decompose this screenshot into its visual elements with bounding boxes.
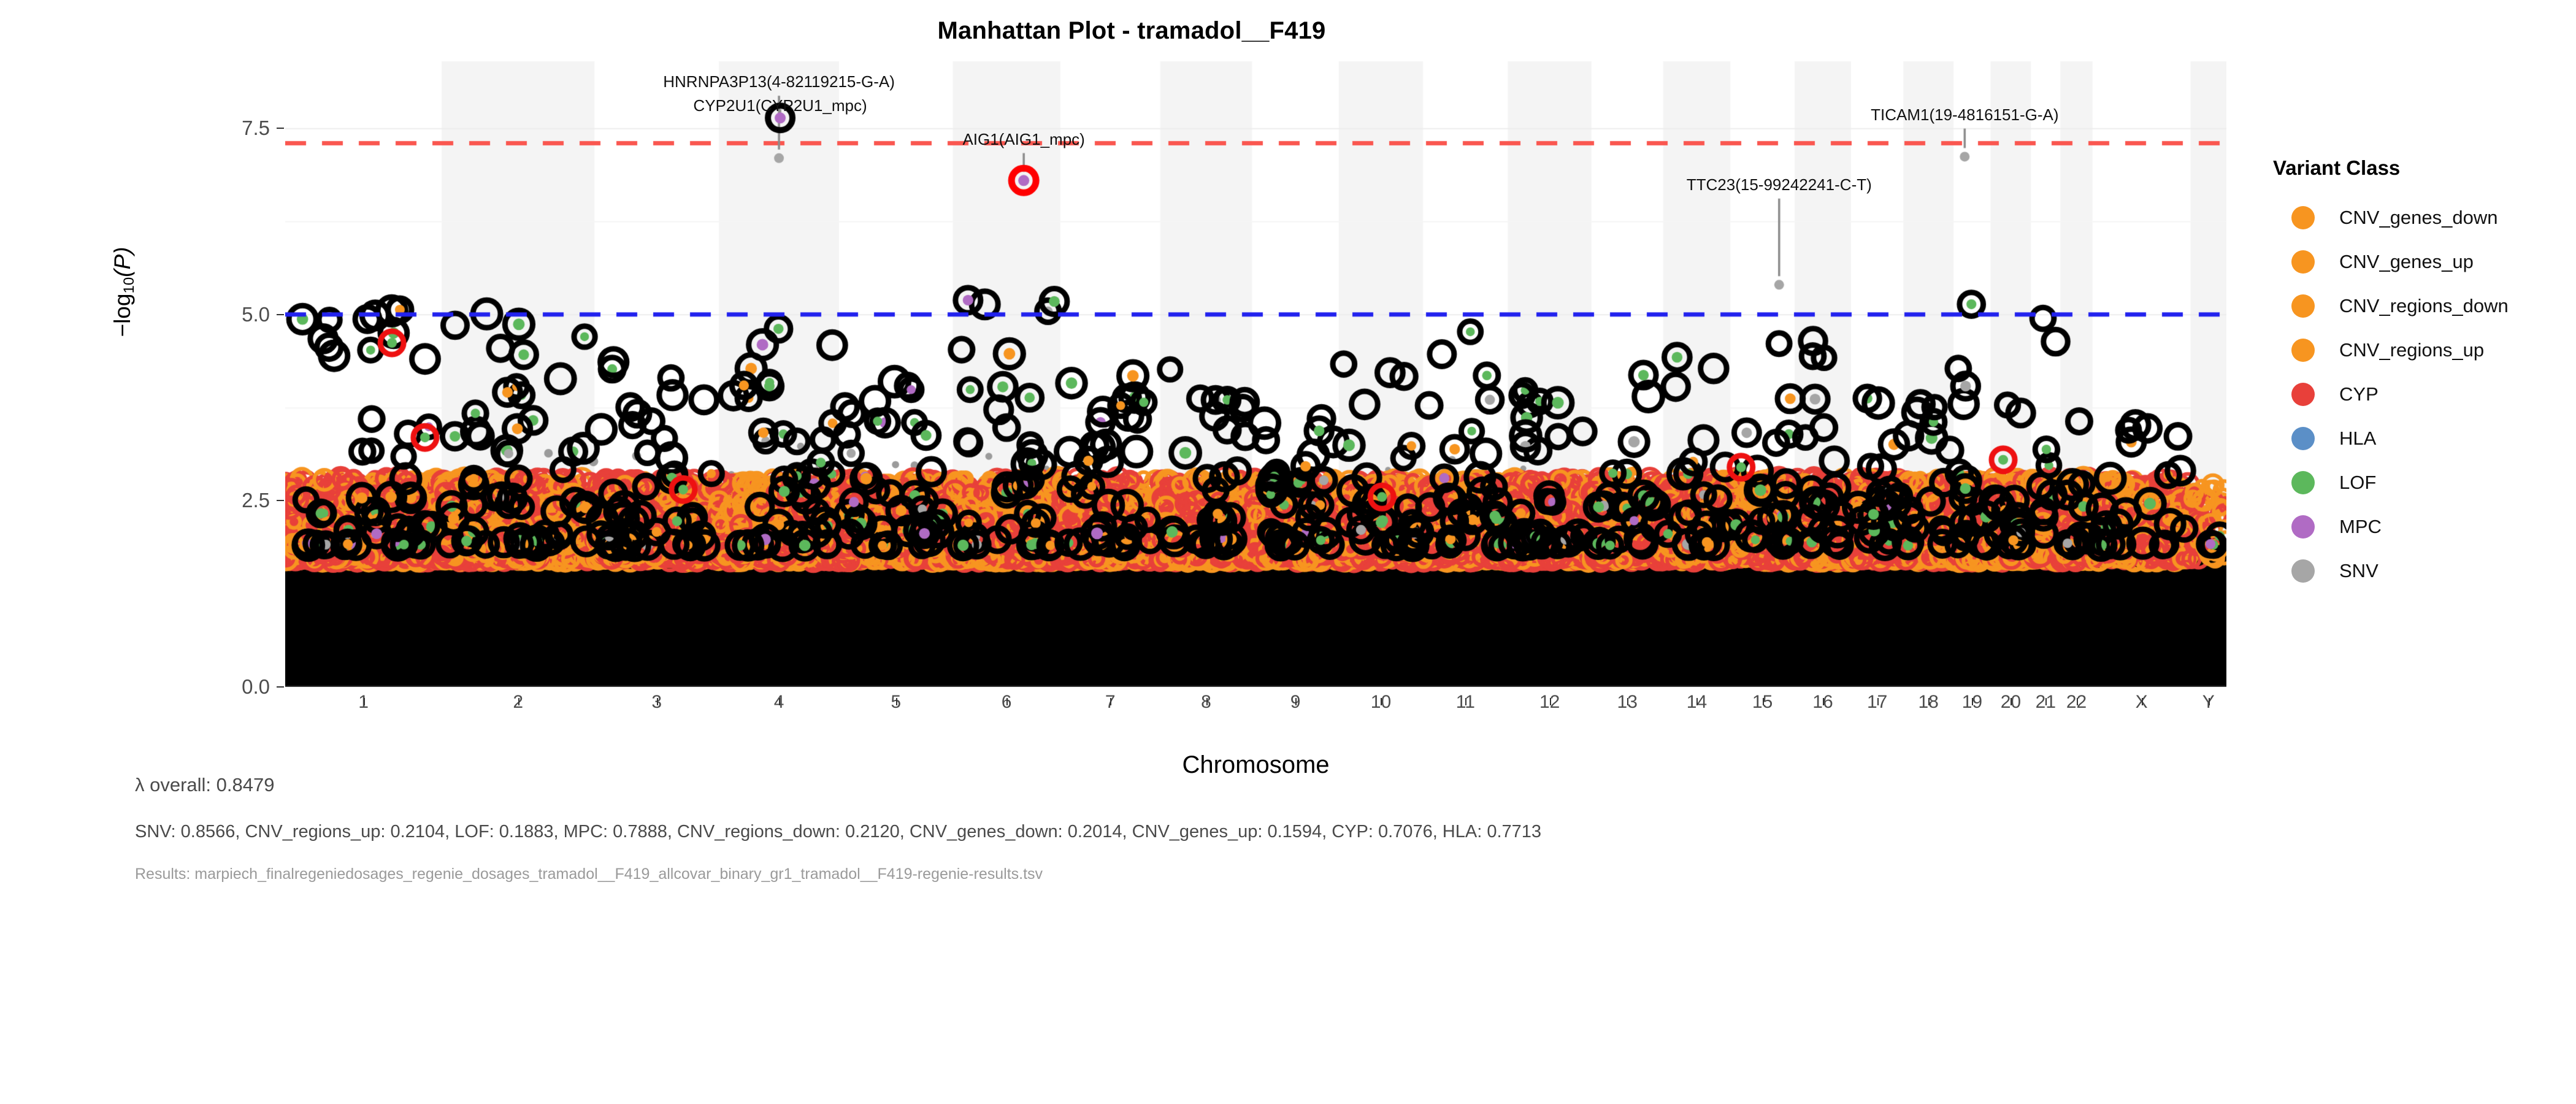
x-tick-mark: [1877, 698, 1879, 705]
y-tick-mark: [277, 686, 284, 688]
y-axis-title-subscript: 10: [121, 277, 137, 294]
y-tick-mark: [277, 314, 284, 315]
legend-item-mpc[interactable]: MPC: [2269, 505, 2558, 549]
annotation-label-ttc23: TTC23(15-99242241-C-T): [1687, 175, 1872, 194]
x-tick-mark: [1206, 698, 1208, 705]
x-tick-mark: [2011, 698, 2012, 705]
x-tick-mark: [1696, 698, 1698, 705]
legend-swatch-icon: [2291, 294, 2315, 318]
y-tick-mark: [277, 128, 284, 129]
legend-items: CNV_genes_downCNV_genes_upCNV_regions_do…: [2269, 196, 2558, 593]
x-tick-mark: [1763, 698, 1764, 705]
legend-title: Variant Class: [2273, 156, 2558, 180]
plot-panel[interactable]: [285, 61, 2226, 687]
x-tick-mark: [1823, 698, 1824, 705]
annotation-label-aig1: AIG1(AIG1_mpc): [962, 130, 1084, 149]
y-tick-label-5.0: 5.0: [147, 303, 270, 326]
legend-swatch-icon: [2291, 339, 2315, 362]
legend-swatch-icon: [2291, 383, 2315, 406]
x-tick-mark: [2142, 698, 2143, 705]
manhattan-scatter-canvas[interactable]: [285, 61, 2226, 687]
legend-swatch-icon: [2291, 427, 2315, 450]
x-tick-mark: [2209, 698, 2210, 705]
legend-item-cnv-regions-up[interactable]: CNV_regions_up: [2269, 328, 2558, 372]
y-tick-label-7.5: 7.5: [147, 117, 270, 140]
y-tick-label-0.0: 0.0: [147, 675, 270, 699]
legend-swatch-icon: [2291, 559, 2315, 583]
x-tick-mark: [364, 698, 365, 705]
x-tick-mark: [1295, 698, 1297, 705]
x-tick-mark: [1110, 698, 1111, 705]
lambda-by-class-text: SNV: 0.8566, CNV_regions_up: 0.2104, LOF…: [135, 822, 2220, 842]
legend-swatch-icon: [2291, 515, 2315, 539]
annotation-label-cyp2u1: CYP2U1(CYP2U1_mpc): [693, 96, 867, 115]
legend-item-label: CYP: [2339, 383, 2379, 405]
legend-swatch-icon: [2291, 206, 2315, 229]
legend-item-snv[interactable]: SNV: [2269, 549, 2558, 593]
x-tick-mark: [779, 698, 780, 705]
y-axis-title-prefix: −log: [110, 294, 135, 337]
annotation-label-ticam1: TICAM1(19-4816151-G-A): [1871, 105, 2058, 125]
lambda-overall-text: λ overall: 0.8479: [135, 774, 2220, 796]
annotation-label-hnrnpa3p13: HNRNPA3P13(4-82119215-G-A): [663, 72, 895, 91]
x-tick-mark: [1465, 698, 1466, 705]
y-axis-title: −log10(P): [110, 163, 136, 421]
y-tick-label-2.5: 2.5: [147, 489, 270, 512]
footer-text-block: λ overall: 0.8479 SNV: 0.8566, CNV_regio…: [135, 774, 2220, 883]
results-file-path: Results: marpiech_finalregeniedosages_re…: [135, 865, 2220, 883]
legend-swatch-icon: [2291, 471, 2315, 494]
y-tick-mark: [277, 500, 284, 501]
legend-item-hla[interactable]: HLA: [2269, 416, 2558, 461]
x-tick-mark: [2077, 698, 2078, 705]
x-tick-mark: [1627, 698, 1628, 705]
x-tick-mark: [1972, 698, 1973, 705]
legend-item-cyp[interactable]: CYP: [2269, 372, 2558, 416]
x-axis-line: [285, 686, 2226, 687]
legend-item-label: CNV_genes_up: [2339, 251, 2474, 273]
legend-item-label: HLA: [2339, 427, 2376, 450]
x-tick-mark: [896, 698, 897, 705]
legend-item-label: CNV_genes_down: [2339, 207, 2498, 229]
legend-item-label: CNV_regions_up: [2339, 339, 2484, 361]
legend-item-lof[interactable]: LOF: [2269, 461, 2558, 505]
x-tick-mark: [518, 698, 519, 705]
legend-swatch-icon: [2291, 250, 2315, 274]
x-tick-mark: [1550, 698, 1551, 705]
x-tick-mark: [2045, 698, 2047, 705]
x-tick-mark: [1006, 698, 1008, 705]
legend-item-cnv-regions-down[interactable]: CNV_regions_down: [2269, 284, 2558, 328]
legend-item-label: SNV: [2339, 560, 2379, 582]
manhattan-plot-figure: Manhattan Plot - tramadol__F419 −log10(P…: [0, 0, 2576, 1104]
y-axis-title-suffix: (P): [110, 247, 135, 277]
legend: Variant Class CNV_genes_downCNV_genes_up…: [2269, 156, 2558, 593]
legend-item-label: LOF: [2339, 472, 2376, 494]
x-tick-mark: [1928, 698, 1930, 705]
x-tick-mark: [1381, 698, 1382, 705]
legend-item-label: MPC: [2339, 516, 2382, 538]
page-title: Manhattan Plot - tramadol__F419: [0, 17, 2263, 45]
x-tick-mark: [657, 698, 658, 705]
legend-item-cnv-genes-up[interactable]: CNV_genes_up: [2269, 240, 2558, 284]
legend-item-label: CNV_regions_down: [2339, 295, 2509, 317]
legend-item-cnv-genes-down[interactable]: CNV_genes_down: [2269, 196, 2558, 240]
